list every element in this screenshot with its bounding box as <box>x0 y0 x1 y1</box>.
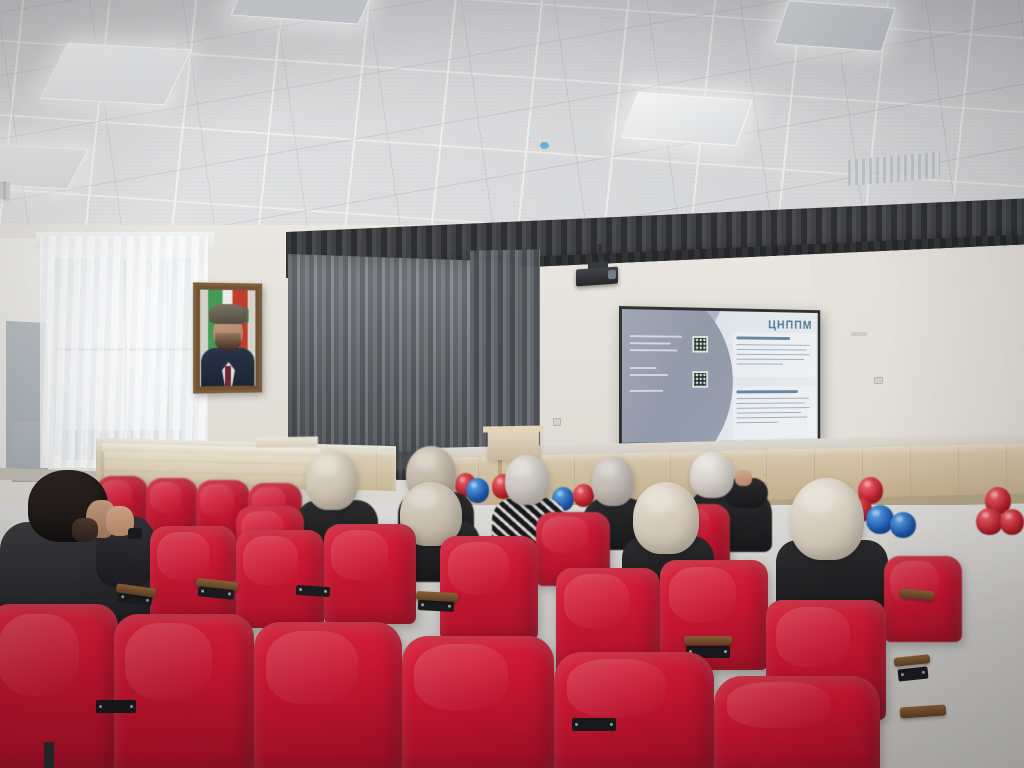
slide-text-block <box>733 333 816 377</box>
qr-code-icon[interactable] <box>692 336 708 353</box>
wall-outlet[interactable] <box>874 377 883 384</box>
portrait-beard <box>215 333 241 351</box>
stage-curtain-right[interactable] <box>470 249 540 450</box>
balloon-blue <box>466 478 489 503</box>
ceiling-light-panel <box>621 92 753 146</box>
seat[interactable] <box>0 604 118 768</box>
sheer-curtain[interactable] <box>40 236 208 468</box>
hijab <box>633 482 699 554</box>
wristwatch <box>128 528 142 539</box>
balloon-red <box>976 508 1003 535</box>
seat[interactable] <box>402 636 554 768</box>
seat[interactable] <box>114 614 254 768</box>
armrest <box>684 636 732 645</box>
slide-logo-text: ЦНППМ <box>768 318 812 332</box>
hijab <box>306 450 358 510</box>
balloon-blue <box>890 512 916 538</box>
ceiling-light-panel <box>774 0 896 52</box>
wall-marking <box>851 332 867 336</box>
seat[interactable] <box>554 652 714 768</box>
seat-leg <box>914 718 926 768</box>
presentation-slide: ЦНППМ <box>622 309 818 443</box>
seat[interactable] <box>254 622 402 768</box>
seat[interactable] <box>440 536 538 640</box>
portrait-tie <box>225 366 231 386</box>
seat-bracket <box>572 718 616 731</box>
qr-code-icon[interactable] <box>692 371 708 388</box>
portrait-image <box>200 290 255 387</box>
hijab <box>505 455 549 505</box>
hijab <box>592 456 634 506</box>
backlit-window <box>40 236 208 468</box>
balloon-red <box>1000 509 1024 535</box>
lectern-top <box>483 425 543 432</box>
papakha-hat-icon <box>209 304 247 324</box>
slide-text-block <box>733 386 816 438</box>
seat[interactable] <box>150 526 236 622</box>
hijab <box>690 452 734 498</box>
projection-screen[interactable]: ЦНППМ <box>619 306 820 446</box>
wall-outlet[interactable] <box>553 418 561 426</box>
seat-bracket <box>96 700 136 713</box>
auditorium-photo: ЦНППМ <box>0 0 1024 768</box>
person-hand <box>735 470 752 486</box>
ceiling-light-panel <box>40 43 192 106</box>
slide-left-text-lines <box>630 335 687 397</box>
seat-leg <box>44 742 54 768</box>
side-table[interactable] <box>256 436 318 447</box>
hijab <box>790 478 864 560</box>
seat[interactable] <box>714 676 880 768</box>
projector-lens-icon <box>608 270 616 280</box>
seat[interactable] <box>324 524 416 624</box>
smoke-detector-icon <box>540 142 549 149</box>
framed-wall-portrait <box>193 282 262 393</box>
person-beard <box>72 518 98 542</box>
seat[interactable] <box>236 530 324 628</box>
